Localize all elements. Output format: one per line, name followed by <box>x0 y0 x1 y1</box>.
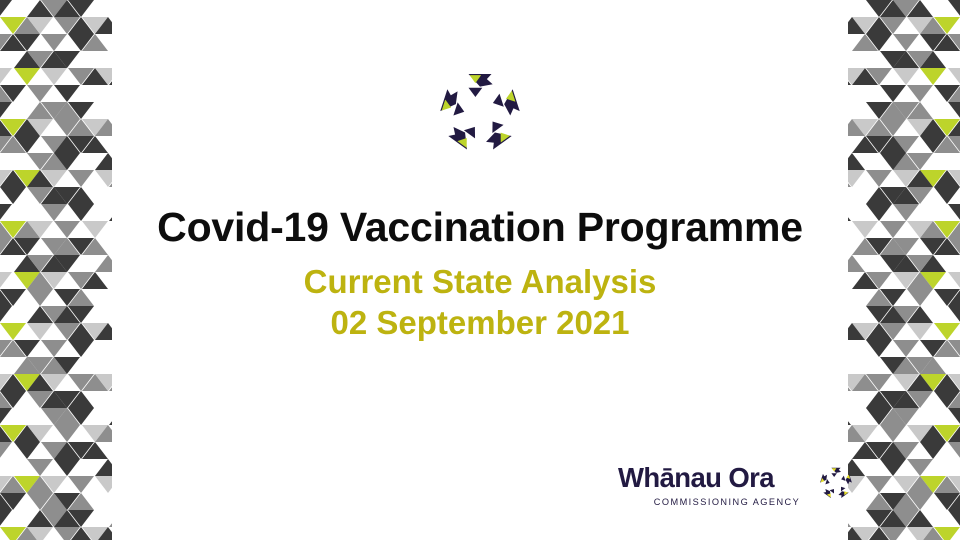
emblem-triangle <box>840 476 845 482</box>
pattern-triangle <box>54 153 80 170</box>
pattern-triangle <box>920 442 946 459</box>
pattern-triangle <box>866 0 892 17</box>
emblem-triangle <box>825 479 830 485</box>
pattern-triangle <box>0 442 12 459</box>
pattern-triangle <box>934 493 960 510</box>
pattern-triangle <box>948 0 960 17</box>
emblem-triangle <box>486 126 512 150</box>
pattern-triangle <box>880 153 906 170</box>
pattern-triangle <box>866 493 892 510</box>
emblem-triangle <box>838 489 848 499</box>
pattern-triangle <box>866 408 892 425</box>
pattern-triangle <box>907 119 933 136</box>
pattern-triangle <box>0 391 26 408</box>
pattern-triangle <box>14 442 40 459</box>
emblem-triangle <box>839 485 846 491</box>
pattern-triangle <box>920 34 946 51</box>
pattern-triangle <box>852 136 878 153</box>
pattern-triangle <box>893 374 919 391</box>
pattern-triangle <box>54 51 80 68</box>
pattern-triangle <box>54 459 80 476</box>
pattern-triangle <box>0 510 12 527</box>
pattern-triangle <box>893 476 919 493</box>
pattern-triangle <box>866 510 892 527</box>
emblem-cluster <box>469 74 493 97</box>
pattern-triangle <box>41 476 67 493</box>
pattern-triangle <box>948 102 960 119</box>
pattern-triangle <box>95 119 112 136</box>
emblem-cluster <box>831 468 841 477</box>
pattern-triangle <box>893 68 919 85</box>
pattern-triangle <box>848 170 851 187</box>
emblem-triangle <box>453 102 466 118</box>
pattern-triangle <box>948 68 960 85</box>
pattern-triangle <box>948 442 960 459</box>
pattern-triangle <box>866 187 892 204</box>
pattern-triangle <box>27 119 53 136</box>
pattern-triangle <box>893 170 919 187</box>
emblem-triangle <box>487 117 504 133</box>
pattern-triangle <box>68 391 94 408</box>
pattern-triangle <box>95 476 112 493</box>
pattern-triangle <box>68 476 94 493</box>
pattern-triangle <box>68 187 94 204</box>
pattern-triangle <box>907 17 933 34</box>
pattern-triangle <box>95 459 112 476</box>
title-block: Covid-19 Vaccination Programme Current S… <box>0 205 960 344</box>
pattern-triangle <box>866 102 892 119</box>
pattern-triangle <box>54 425 80 442</box>
pattern-triangle <box>848 527 865 540</box>
pattern-triangle <box>68 493 94 510</box>
whanau-ora-logo: Whānau Ora COMMISSIONING AGENCY <box>618 462 854 520</box>
pattern-triangle <box>54 85 80 102</box>
pattern-triangle <box>54 357 80 374</box>
pattern-triangle <box>0 493 26 510</box>
pattern-triangle <box>848 68 851 85</box>
pattern-triangle <box>68 0 94 17</box>
pattern-triangle <box>0 0 12 17</box>
pattern-triangle <box>95 153 112 170</box>
pattern-triangle <box>848 374 851 391</box>
pattern-triangle <box>907 459 933 476</box>
pattern-triangle <box>68 408 94 425</box>
pattern-triangle <box>68 170 94 187</box>
emblem-cluster <box>823 485 836 498</box>
pattern-triangle <box>0 68 12 85</box>
emblem-cluster <box>447 117 480 150</box>
pattern-triangle <box>0 102 12 119</box>
pattern-triangle <box>14 68 40 85</box>
pattern-triangle <box>880 85 906 102</box>
pentagon-triangle-emblem-icon <box>434 62 526 162</box>
pattern-triangle <box>109 374 112 391</box>
whanau-ora-pentagon-mark-icon <box>816 463 856 503</box>
pattern-triangle <box>109 170 112 187</box>
pattern-triangle <box>82 34 108 51</box>
pattern-triangle <box>27 425 53 442</box>
pattern-triangle <box>68 102 94 119</box>
pattern-triangle <box>907 425 933 442</box>
pattern-triangle <box>68 510 94 527</box>
emblem-cluster <box>479 117 512 150</box>
pattern-triangle <box>866 476 892 493</box>
subtitle-line-2: 02 September 2021 <box>0 303 960 344</box>
emblem-triangle <box>831 473 837 477</box>
pattern-triangle <box>848 153 865 170</box>
emblem-triangle <box>830 487 837 493</box>
pattern-triangle <box>934 85 960 102</box>
pattern-triangle <box>852 34 878 51</box>
pattern-triangle <box>27 459 53 476</box>
pattern-triangle <box>920 68 946 85</box>
pattern-triangle <box>109 510 112 527</box>
pattern-triangle <box>27 85 53 102</box>
pattern-triangle <box>852 442 878 459</box>
pattern-triangle <box>41 68 67 85</box>
emblem-triangle <box>491 94 504 110</box>
pattern-triangle <box>109 408 112 425</box>
pattern-triangle <box>27 17 53 34</box>
pattern-triangle <box>95 17 112 34</box>
pattern-triangle <box>41 374 67 391</box>
pattern-triangle <box>880 459 906 476</box>
whanau-ora-wordmark: Whānau Ora <box>618 462 808 494</box>
pattern-triangle <box>27 527 53 540</box>
pattern-triangle <box>41 34 67 51</box>
pattern-triangle <box>893 34 919 51</box>
pattern-triangle <box>934 391 960 408</box>
pattern-triangle <box>907 85 933 102</box>
pattern-triangle <box>934 187 960 204</box>
emblem-cluster <box>440 88 469 118</box>
pattern-triangle <box>0 408 12 425</box>
pattern-triangle <box>41 170 67 187</box>
emblem-cluster <box>491 89 520 119</box>
pattern-triangle <box>82 136 108 153</box>
title-slide: Covid-19 Vaccination Programme Current S… <box>0 0 960 540</box>
emblem-cluster <box>820 473 832 485</box>
whanau-ora-tagline: COMMISSIONING AGENCY <box>644 497 810 507</box>
pattern-triangle <box>848 408 851 425</box>
emblem-triangle <box>469 88 483 97</box>
emblem-triangle <box>464 123 481 139</box>
pattern-triangle <box>95 425 112 442</box>
pattern-triangle <box>0 85 26 102</box>
pattern-triangle <box>82 442 108 459</box>
pattern-triangle <box>95 527 112 540</box>
emblem-cluster <box>840 474 852 486</box>
pattern-triangle <box>848 425 865 442</box>
pattern-triangle <box>109 68 112 85</box>
pattern-triangle <box>948 510 960 527</box>
page-title: Covid-19 Vaccination Programme <box>0 205 960 250</box>
subtitle-line-1: Current State Analysis <box>0 262 960 303</box>
pattern-triangle <box>848 17 865 34</box>
pattern-triangle <box>907 527 933 540</box>
pattern-triangle <box>920 136 946 153</box>
pattern-triangle <box>14 34 40 51</box>
emblem-cluster <box>835 485 848 498</box>
pattern-triangle <box>866 391 892 408</box>
pattern-triangle <box>880 51 906 68</box>
pattern-triangle <box>14 136 40 153</box>
pattern-triangle <box>0 187 26 204</box>
pattern-triangle <box>880 357 906 374</box>
pattern-triangle <box>866 170 892 187</box>
pattern-triangle <box>848 119 865 136</box>
pattern-triangle <box>948 408 960 425</box>
pattern-triangle <box>880 425 906 442</box>
